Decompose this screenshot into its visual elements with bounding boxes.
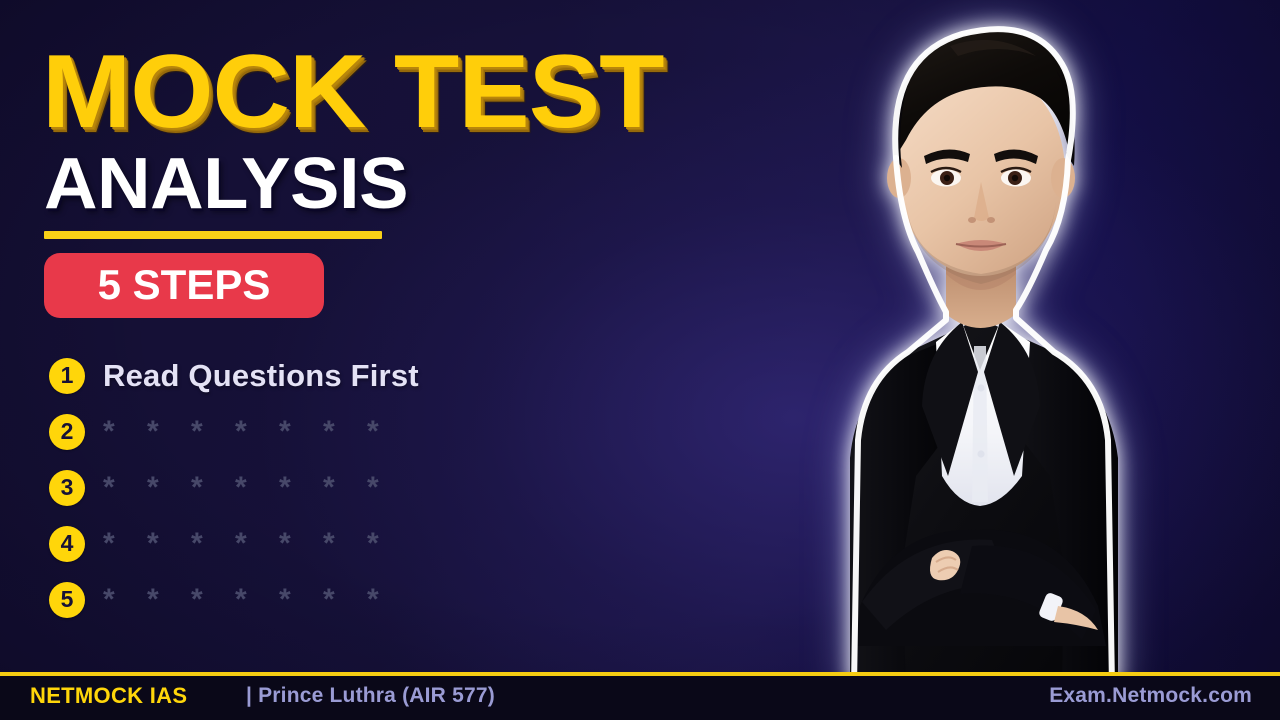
presenter-credit: |Prince Luthra (AIR 577) bbox=[246, 684, 495, 708]
steps-badge-label: 5 STEPS bbox=[98, 264, 271, 306]
steps-list: 1 Read Questions First 2 * * * * * * * 3… bbox=[49, 348, 689, 628]
portrait-photo bbox=[710, 6, 1250, 672]
step-label-masked: * * * * * * * bbox=[103, 415, 391, 449]
list-item: 4 * * * * * * * bbox=[49, 516, 689, 572]
step-number-badge: 5 bbox=[49, 582, 85, 618]
step-number-badge: 3 bbox=[49, 470, 85, 506]
list-item: 5 * * * * * * * bbox=[49, 572, 689, 628]
credit-name: Prince Luthra (AIR 577) bbox=[258, 684, 495, 707]
brand-logo-text: NETMOCK IAS bbox=[30, 683, 187, 709]
website-url: Exam.Netmock.com bbox=[1049, 684, 1252, 708]
content-column: MOCK TEST ANALYSIS 5 STEPS 1 Read Questi… bbox=[42, 0, 742, 672]
step-label: Read Questions First bbox=[103, 358, 419, 394]
list-item: 1 Read Questions First bbox=[49, 348, 689, 404]
step-number-label: 3 bbox=[61, 476, 74, 499]
title-underline bbox=[44, 231, 382, 239]
page-title-sub: ANALYSIS bbox=[44, 148, 408, 220]
steps-badge: 5 STEPS bbox=[44, 253, 324, 318]
step-label-masked: * * * * * * * bbox=[103, 471, 391, 505]
step-number-badge: 2 bbox=[49, 414, 85, 450]
step-number-label: 2 bbox=[61, 420, 74, 443]
list-item: 3 * * * * * * * bbox=[49, 460, 689, 516]
footer-divider bbox=[0, 672, 1280, 676]
step-number-badge: 1 bbox=[49, 358, 85, 394]
credit-separator: | bbox=[246, 684, 252, 707]
step-label-masked: * * * * * * * bbox=[103, 527, 391, 561]
thumbnail-canvas: MOCK TEST ANALYSIS 5 STEPS 1 Read Questi… bbox=[0, 0, 1280, 720]
step-number-label: 5 bbox=[61, 588, 74, 611]
portrait-container bbox=[690, 0, 1280, 672]
step-number-badge: 4 bbox=[49, 526, 85, 562]
step-number-label: 4 bbox=[61, 532, 74, 555]
step-label-masked: * * * * * * * bbox=[103, 583, 391, 617]
step-number-label: 1 bbox=[61, 364, 74, 387]
page-title-main: MOCK TEST bbox=[42, 40, 664, 144]
list-item: 2 * * * * * * * bbox=[49, 404, 689, 460]
footer-bar: NETMOCK IAS |Prince Luthra (AIR 577) Exa… bbox=[0, 672, 1280, 720]
